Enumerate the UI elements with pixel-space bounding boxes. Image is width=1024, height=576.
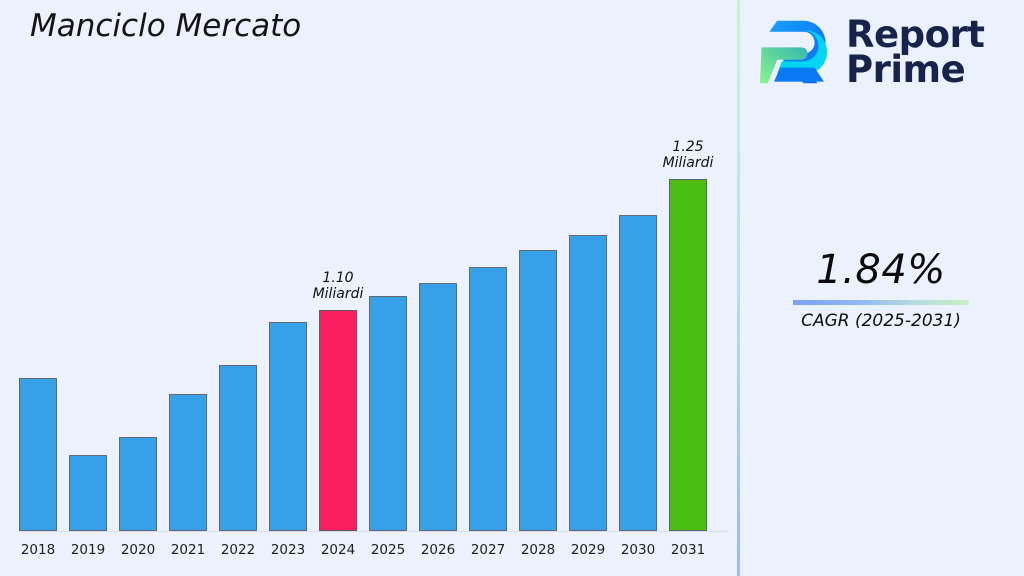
bar-2027[interactable] [469, 267, 507, 531]
bar-chart: 2018201920202021202220232024202520262027… [0, 0, 738, 576]
brand-name-line-2: Prime [846, 52, 984, 87]
brand-name-line-1: Report [846, 17, 984, 52]
bar-2024[interactable] [319, 310, 357, 531]
bar-2031[interactable] [669, 179, 707, 531]
x-axis-label-2029: 2029 [569, 542, 607, 558]
x-axis-label-2026: 2026 [419, 542, 457, 558]
bar-2030[interactable] [619, 215, 657, 531]
bar-2028[interactable] [519, 250, 557, 531]
bar-2029[interactable] [569, 235, 607, 531]
bar-2022[interactable] [219, 365, 257, 531]
bar-2025[interactable] [369, 296, 407, 531]
x-axis-label-2025: 2025 [369, 542, 407, 558]
x-axis-label-2019: 2019 [69, 542, 107, 558]
x-axis-label-2021: 2021 [169, 542, 207, 558]
bar-2021[interactable] [169, 394, 207, 531]
value-label-2031: 1.25 Miliardi [628, 139, 748, 171]
x-axis-label-2023: 2023 [269, 542, 307, 558]
x-axis-label-2028: 2028 [519, 542, 557, 558]
summary-panel: Report Prime 1.84% CAGR (2025-2031) [738, 0, 1024, 576]
bar-2019[interactable] [69, 455, 107, 531]
cagr-block: 1.84% CAGR (2025-2031) [738, 248, 1024, 331]
bar-2018[interactable] [19, 378, 57, 531]
brand-wordmark: Report Prime [846, 17, 984, 87]
x-axis-label-2027: 2027 [469, 542, 507, 558]
x-axis-label-2022: 2022 [219, 542, 257, 558]
bar-2026[interactable] [419, 283, 457, 531]
bar-2023[interactable] [269, 322, 307, 531]
cagr-value: 1.84% [738, 248, 1024, 292]
x-axis-line [18, 531, 729, 532]
x-axis-label-2020: 2020 [119, 542, 157, 558]
chart-panel: Manciclo Mercato 20182019202020212022202… [0, 0, 738, 576]
report-prime-r-logo-icon [760, 13, 838, 91]
page-root: Manciclo Mercato 20182019202020212022202… [0, 0, 1024, 576]
x-axis-label-2031: 2031 [669, 542, 707, 558]
cagr-divider-rule [793, 300, 969, 305]
bar-2020[interactable] [119, 437, 157, 531]
x-axis-label-2018: 2018 [19, 542, 57, 558]
x-axis-label-2024: 2024 [319, 542, 357, 558]
x-axis-label-2030: 2030 [619, 542, 657, 558]
brand-logo: Report Prime [760, 10, 1004, 94]
cagr-caption: CAGR (2025-2031) [738, 311, 1024, 331]
